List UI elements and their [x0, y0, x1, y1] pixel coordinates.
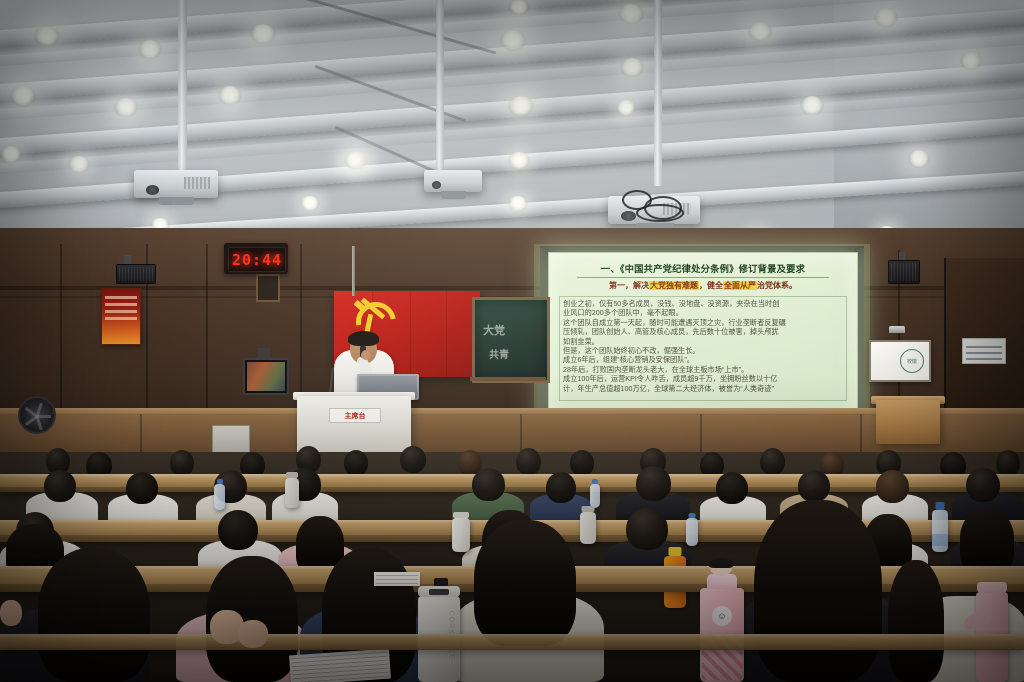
lectern-nameplate: 主席台 — [329, 408, 381, 423]
wall-poster-red — [101, 288, 141, 345]
projector-vent — [184, 177, 209, 189]
university-seal-icon: 校徽 — [900, 349, 924, 373]
wall-fan — [18, 396, 56, 434]
slide-subtitle: 第一，解决大党独有难题，健全全面从严治党体系。 — [549, 280, 857, 291]
projector-mount-pole — [654, 0, 662, 186]
water-bottle-clear — [686, 518, 698, 546]
lecturer-hair — [348, 331, 379, 346]
ceiling-light — [508, 96, 534, 116]
notebook-paper — [374, 572, 420, 586]
bottle-cap — [453, 512, 469, 518]
audience-head — [126, 472, 158, 504]
chalk-tray — [470, 377, 546, 381]
audience-head — [798, 470, 830, 502]
audience-head — [716, 472, 748, 504]
audience-head — [170, 450, 194, 476]
monitor-arm — [258, 348, 270, 358]
ceiling-light — [508, 0, 530, 14]
audience-head — [996, 450, 1020, 476]
ceiling-light — [508, 152, 530, 169]
audience-head — [626, 508, 668, 550]
slide-body-line: 压倾轧，团队创始人、高管及核心成员，先后数十位被害，掉头颅犹 — [563, 327, 843, 336]
lecture-hall-photo: 20:44 一、《中国共产党纪律处分条例》修订背景及要求 第一，解决大党独有难题… — [0, 0, 1024, 682]
slide-body: 创业之初，仅有50多名成员，没钱、没地盘、没资源，夹杂在当时创业风口的200多个… — [559, 296, 847, 401]
projector-bracket — [159, 197, 194, 205]
flag-fold — [410, 291, 411, 377]
flag-fold — [446, 291, 447, 377]
slide-subtitle-prefix: 第一，解决 — [609, 281, 649, 290]
bottle-cap — [592, 479, 598, 484]
thermos-gray — [580, 512, 596, 544]
door-sign-text — [966, 342, 1002, 360]
slide-title-underline — [577, 277, 829, 278]
audience-hand — [238, 620, 268, 648]
audience-hand — [0, 600, 22, 626]
chalk-text-1: 大党 — [483, 322, 505, 338]
speaker-grille — [119, 267, 153, 281]
audience-head — [966, 468, 1000, 502]
wall-speaker-right — [888, 260, 920, 284]
ceiling-light — [300, 196, 320, 211]
ceiling-light — [618, 4, 644, 24]
audience-head — [636, 466, 671, 501]
projector-center — [424, 170, 482, 192]
projector-mount-pole — [178, 0, 187, 172]
ceiling-light — [960, 52, 982, 70]
ceiling-light — [908, 150, 930, 168]
poster-text-block — [105, 294, 137, 320]
ceiling-light — [616, 100, 636, 116]
chalk-text-2: 共青 — [489, 346, 509, 361]
wall-monitor — [243, 358, 289, 395]
ceiling-light — [114, 98, 138, 117]
lectern-wood — [876, 400, 940, 444]
slide-body-line: 但是，这个团队始终初心不改，倔强生长。 — [563, 346, 843, 355]
ceiling-light — [508, 196, 528, 211]
wall-whiteboard: 校徽 — [869, 340, 931, 382]
bottle-cap — [286, 472, 298, 478]
ceiling-light — [874, 8, 898, 27]
ceiling-light — [620, 58, 644, 77]
bottle-cap — [669, 547, 682, 556]
projector-left — [134, 170, 218, 198]
projector-cable-icon — [636, 204, 684, 222]
notebook-paper — [289, 649, 391, 682]
thermos-lid-latch — [429, 589, 449, 595]
audience-head — [472, 468, 505, 501]
audience-head — [400, 446, 426, 473]
audience-head — [218, 510, 258, 550]
door-notice-sign — [962, 338, 1006, 364]
thermos-lid — [707, 574, 737, 589]
bottle-cap — [217, 479, 223, 484]
thermos-gray — [285, 478, 299, 508]
bottle-cap — [689, 513, 696, 518]
ceiling-light — [500, 30, 526, 51]
projector-lens-icon — [432, 181, 441, 189]
bottle-label — [932, 534, 948, 546]
water-bottle-clear — [932, 510, 948, 552]
wall-speaker-left — [116, 264, 156, 284]
ceiling-light — [218, 86, 242, 105]
audience-long-hair — [754, 500, 882, 682]
audience-long-hair — [888, 560, 944, 682]
paper-text-lines — [376, 574, 418, 584]
wall-trim — [0, 286, 1024, 290]
slide-body-line: 计，年生产总值超100万亿，全球第二大经济体，被誉为“人类奇迹” — [563, 384, 843, 393]
water-bottle-clear — [590, 484, 600, 508]
monitor-screen-content — [247, 362, 285, 391]
ceiling-light — [34, 26, 60, 46]
audience-long-hair — [474, 520, 576, 646]
slide-body-line: 创业之初，仅有50多名成员，没钱、没地盘、没资源，夹杂在当时创 — [563, 299, 843, 308]
audience-head — [570, 450, 594, 476]
ceiling-light — [250, 24, 276, 44]
chalkboard: 大党 共青 — [472, 297, 550, 383]
ceiling-light — [68, 156, 90, 173]
audience-head — [760, 448, 785, 475]
slide-body-line: 这个团队自成立第一天起，随时可能遭遇灭顶之灾，行业垄断者反复碾 — [563, 318, 843, 327]
ceiling-light — [800, 96, 824, 115]
whiteboard-lamp — [889, 326, 905, 333]
ceiling-light — [748, 22, 772, 41]
water-bottle-clear — [214, 484, 225, 510]
ceiling-light — [344, 152, 366, 169]
audience-head — [546, 472, 576, 503]
lectern-white — [297, 396, 411, 454]
speaker-grille — [891, 263, 917, 281]
ceiling-light — [0, 146, 22, 163]
slide-subtitle-highlight-1: 大党独有难题 — [649, 281, 699, 290]
audience-head — [44, 470, 76, 502]
flag-pole — [352, 246, 355, 296]
wall-picture-frame — [256, 274, 280, 302]
audience-head — [344, 450, 368, 476]
desk-row-foreground — [0, 634, 1024, 650]
projector-lens-icon — [621, 211, 636, 221]
slide-subtitle-highlight-2: 全面从严 — [723, 281, 757, 290]
slide-title: 一、《中国共产党纪律处分条例》修订背景及要求 — [549, 261, 857, 275]
bottle-cap — [977, 582, 1007, 593]
thermos-white-corkcicle — [452, 518, 470, 552]
audience-head — [516, 448, 541, 475]
ceiling-light — [138, 40, 162, 59]
cartoon-hair-icon — [709, 558, 733, 568]
projection-screen: 一、《中国共产党纪律处分条例》修订背景及要求 第一，解决大党独有难题，健全全面从… — [548, 252, 858, 420]
desk-edge — [0, 634, 1024, 638]
paper-text-lines — [291, 651, 389, 682]
audience-long-hair — [960, 508, 1014, 574]
slide-body-line: 业风口的200多个团队中，毫不起眼。 — [563, 308, 843, 317]
slide-subtitle-mid: ，健全 — [699, 281, 723, 290]
bottle-cap — [936, 502, 945, 510]
projector-lens-icon — [146, 185, 159, 195]
slide-body-line: 成立100年后，运营KPI令人咋舌，成员超9千万，坐拥粉丝数以十亿 — [563, 374, 843, 383]
projector-bracket — [441, 191, 465, 199]
projector-mount-pole — [436, 0, 444, 172]
slide-subtitle-suffix: 治党体系。 — [757, 281, 797, 290]
audience-head — [876, 470, 909, 503]
lecturer-hand — [361, 350, 371, 360]
slide-body-line: 28年后，打败国内垄断龙头老大，在全球主板市场“上市”。 — [563, 365, 843, 374]
slide-body-line: 如割韭菜。 — [563, 337, 843, 346]
bottle-cap — [582, 506, 595, 512]
ceiling-light — [10, 86, 36, 106]
slide-body-line: 成立6年后，组建“核心营销及安保团队”。 — [563, 355, 843, 364]
led-wall-clock: 20:44 — [228, 247, 286, 272]
smiley-face-icon: ☺ — [712, 606, 732, 626]
audience-long-hair — [38, 548, 150, 682]
